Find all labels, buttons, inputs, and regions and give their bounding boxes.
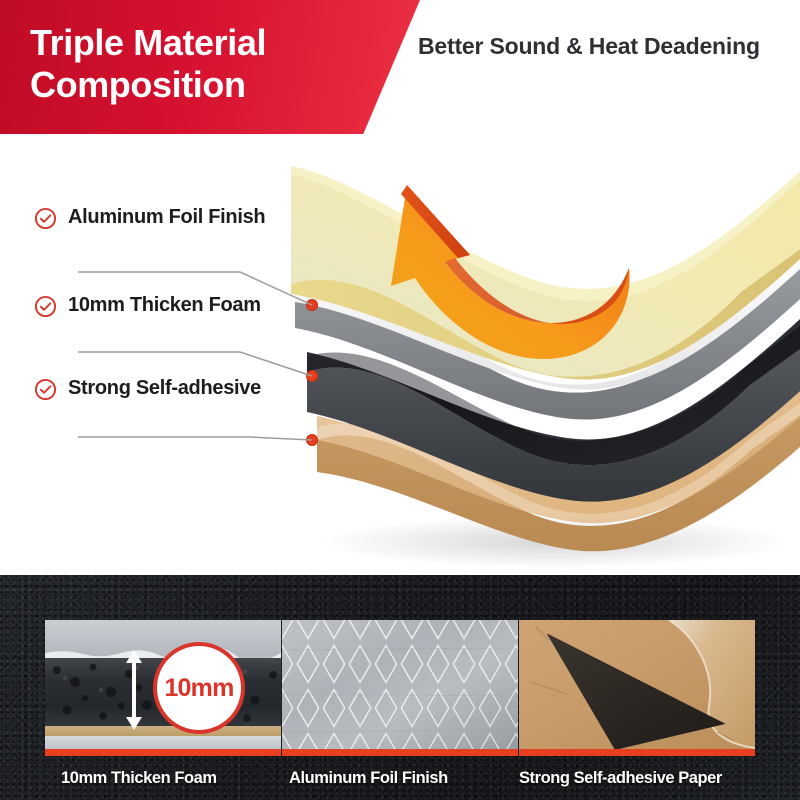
feature-item-self-adhesive[interactable]: Strong Self-adhesive bbox=[34, 375, 299, 401]
check-circle-icon bbox=[34, 295, 57, 318]
card-accent-bar bbox=[519, 749, 755, 756]
infographic-page: Triple Material Composition Better Sound… bbox=[0, 0, 800, 800]
card-accent-bar bbox=[282, 749, 518, 756]
card-aluminum-foil[interactable]: Aluminum Foil Finish bbox=[282, 620, 518, 788]
check-circle-icon bbox=[34, 207, 57, 230]
card-caption: Aluminum Foil Finish bbox=[282, 769, 518, 788]
check-circle-icon bbox=[34, 378, 57, 401]
card-thicken-foam[interactable]: 10mm 10mm Thicken Foam bbox=[45, 620, 281, 788]
card-caption: Strong Self-adhesive Paper bbox=[519, 769, 755, 788]
card-accent-bar bbox=[45, 749, 281, 756]
feature-item-thicken-foam[interactable]: 10mm Thicken Foam bbox=[34, 292, 299, 318]
page-title: Triple Material Composition bbox=[30, 22, 375, 107]
exploded-layer-diagram bbox=[255, 150, 800, 570]
header-subtitle: Better Sound & Heat Deadening bbox=[418, 32, 778, 61]
foil-texture bbox=[282, 620, 518, 756]
feature-list: Aluminum Foil Finish 10mm Thicken Foam S… bbox=[0, 150, 310, 480]
bottom-panel: 10mm 10mm Thicken Foam bbox=[0, 575, 800, 800]
feature-label: 10mm Thicken Foam bbox=[68, 292, 261, 317]
card-self-adhesive-paper[interactable]: Strong Self-adhesive Paper bbox=[519, 620, 755, 788]
aluminum-foil-texture-photo bbox=[282, 620, 518, 756]
card-caption: 10mm Thicken Foam bbox=[45, 769, 281, 788]
thickness-arrow-icon bbox=[123, 650, 145, 730]
thickness-badge: 10mm bbox=[153, 642, 245, 734]
foam-cross-section-photo: 10mm bbox=[45, 620, 281, 756]
product-detail-cards: 10mm 10mm Thicken Foam bbox=[0, 575, 800, 800]
foil-lattice-svg bbox=[282, 620, 518, 756]
feature-label: Aluminum Foil Finish bbox=[68, 204, 265, 229]
layer-stack-svg bbox=[255, 150, 800, 570]
peeling-adhesive-paper-photo bbox=[519, 620, 755, 756]
feature-label: Strong Self-adhesive bbox=[68, 375, 261, 400]
header: Triple Material Composition Better Sound… bbox=[0, 0, 800, 140]
adhesive-photo-svg bbox=[519, 620, 755, 756]
feature-item-aluminum-foil[interactable]: Aluminum Foil Finish bbox=[34, 204, 299, 230]
